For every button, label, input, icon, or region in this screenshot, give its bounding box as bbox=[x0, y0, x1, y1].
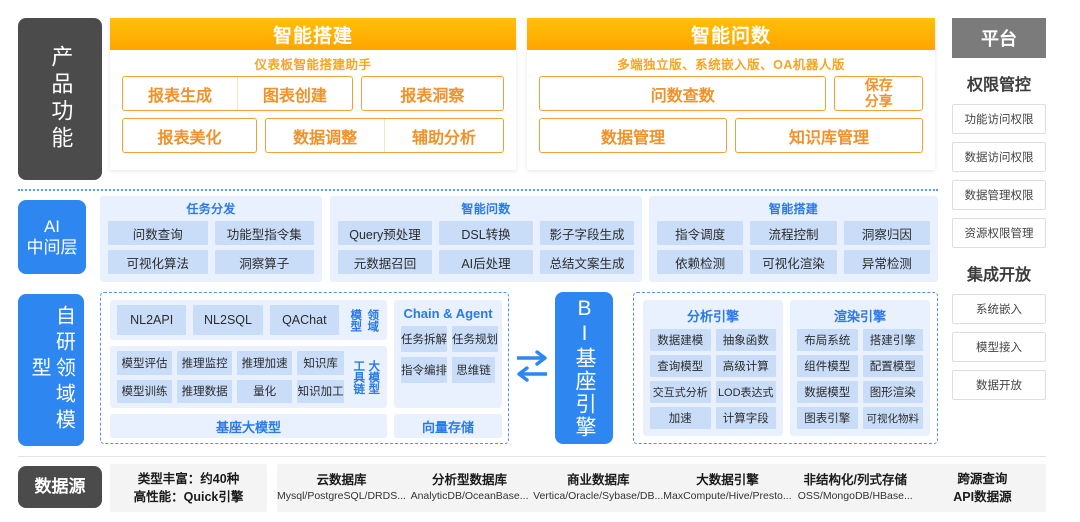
datasource-col-bigdata-engine-sub: MaxCompute/Hive/Presto... bbox=[663, 489, 791, 504]
panel-smart-query-row-2: 数据管理 知识库管理 bbox=[539, 118, 923, 153]
chip-instruction-orchestration[interactable]: 指令编排 bbox=[401, 357, 447, 383]
ai-task-dispatch-row-1: 问数查询 功能型指令集 bbox=[108, 221, 314, 245]
ai-task-dispatch-row-2: 可视化算法 洞察算子 bbox=[108, 250, 314, 274]
chip-quantization[interactable]: 量化 bbox=[237, 380, 292, 404]
rail-ai-label-line1: AI bbox=[27, 216, 78, 237]
ai-chip-instruction-schedule[interactable]: 指令调度 bbox=[657, 221, 743, 245]
datasource-col-cloud-db-sub: Mysql/PostgreSQL/DRDS... bbox=[277, 489, 406, 504]
sidelabel-toolchain: 工具链 bbox=[350, 351, 365, 403]
ai-group-smart-query: 智能问数 Query预处理 DSL转换 影子字段生成 元数据召回 AI后处理 总… bbox=[330, 196, 642, 282]
chip-calculated-field[interactable]: 计算字段 bbox=[716, 407, 777, 429]
panel-smart-query-header: 智能问数 bbox=[527, 18, 935, 50]
chip-chain-of-thought[interactable]: 思维链 bbox=[452, 357, 495, 383]
pane-chain-agent: Chain & Agent 任务拆解 任务规划 指令编排 思维链 bbox=[394, 300, 502, 408]
pane-render-engine-title: 渲染引擎 bbox=[797, 306, 923, 325]
ai-chip-metadata-recall[interactable]: 元数据召回 bbox=[338, 250, 432, 274]
ai-chip-ai-postprocess[interactable]: AI后处理 bbox=[439, 250, 533, 274]
ai-chip-ask-query[interactable]: 问数查询 bbox=[108, 221, 208, 245]
ai-chip-insight-attribution[interactable]: 洞察归因 bbox=[844, 221, 930, 245]
feature-report-insight[interactable]: 报表洞察 bbox=[361, 76, 504, 111]
panel-smart-build-row-2: 报表美化 数据调整 辅助分析 bbox=[122, 118, 504, 153]
platform-item-function-access[interactable]: 功能访问权限 bbox=[952, 104, 1046, 134]
chip-data-model[interactable]: 数据模型 bbox=[797, 381, 858, 403]
panel-smart-query-row-1: 问数查数 保存 分享 bbox=[539, 76, 923, 111]
rail-data-source: 数据源 bbox=[18, 466, 102, 508]
rail-domain-model-label: 自研领域模型 bbox=[27, 294, 76, 446]
ai-smart-build-row-2: 依赖检测 可视化渲染 异常检测 bbox=[657, 250, 930, 274]
sidelabel-domain: 领域 bbox=[363, 305, 380, 335]
ai-chip-process-control[interactable]: 流程控制 bbox=[750, 221, 836, 245]
ai-chip-visualization-render[interactable]: 可视化渲染 bbox=[750, 250, 836, 274]
chip-task-planning[interactable]: 任务规划 bbox=[452, 326, 498, 352]
ai-chip-anomaly-detect[interactable]: 异常检测 bbox=[844, 250, 930, 274]
datasource-col-unstructured-storage-title: 非结构化/列式存储 bbox=[804, 471, 907, 489]
chip-advanced-calculation[interactable]: 高级计算 bbox=[716, 355, 777, 377]
datasource-summary-card: 类型丰富：约40种 高性能：Quick引擎 bbox=[110, 464, 267, 512]
section-domain-model: 自研领域模型 NL2API NL2SQL QAChat 模型 领域 bbox=[0, 288, 1080, 452]
panel-smart-build-header: 智能搭建 bbox=[110, 18, 516, 50]
ai-group-task-dispatch-title: 任务分发 bbox=[108, 200, 314, 217]
datasource-col-cloud-db[interactable]: 云数据库 Mysql/PostgreSQL/DRDS... bbox=[277, 471, 406, 504]
architecture-diagram: 产品功能 智能搭建 仪表板智能搭建助手 报表生成 图表创建 报表洞察 报表美化 … bbox=[0, 0, 1080, 522]
datasource-col-commercial-db-title: 商业数据库 bbox=[567, 471, 630, 489]
feature-box-report-generate-chart-create[interactable]: 报表生成 图表创建 bbox=[122, 76, 353, 111]
sidelabel-model: 模型 bbox=[346, 305, 363, 335]
ai-chip-query-preprocess[interactable]: Query预处理 bbox=[338, 221, 432, 245]
chip-acceleration[interactable]: 加速 bbox=[650, 407, 711, 429]
panel-smart-build: 智能搭建 仪表板智能搭建助手 报表生成 图表创建 报表洞察 报表美化 数据调整 … bbox=[110, 18, 516, 170]
pane-analysis-engine-title: 分析引擎 bbox=[650, 306, 776, 325]
feature-data-management[interactable]: 数据管理 bbox=[539, 118, 727, 153]
pane-vector-storage[interactable]: 向量存储 bbox=[394, 414, 502, 438]
chip-data-modeling[interactable]: 数据建模 bbox=[650, 329, 711, 351]
chip-knowledge-base[interactable]: 知识库 bbox=[297, 351, 344, 375]
ai-smart-build-row-1: 指令调度 流程控制 洞察归因 bbox=[657, 221, 930, 245]
rail-data-source-label: 数据源 bbox=[35, 477, 86, 498]
rail-ai-label-line2: 中间层 bbox=[27, 237, 78, 258]
feature-report-generate[interactable]: 报表生成 bbox=[123, 77, 237, 110]
chip-lod-expression[interactable]: LOD表达式 bbox=[716, 381, 777, 403]
chip-qachat[interactable]: QAChat bbox=[270, 305, 339, 335]
chip-inference-data[interactable]: 推理数据 bbox=[177, 380, 232, 404]
chip-query-model[interactable]: 查询模型 bbox=[650, 355, 711, 377]
pane-foundation-model-label: 基座大模型 bbox=[216, 417, 281, 436]
ai-group-smart-query-title: 智能问数 bbox=[338, 200, 634, 217]
datasource-types-card: 云数据库 Mysql/PostgreSQL/DRDS... 分析型数据库 Ana… bbox=[277, 464, 1046, 512]
chip-task-decompose[interactable]: 任务拆解 bbox=[401, 326, 447, 352]
chip-graphic-render[interactable]: 图形渲染 bbox=[863, 381, 924, 403]
platform-group-title-permission: 权限管控 bbox=[952, 71, 1046, 95]
ai-chip-dsl-convert[interactable]: DSL转换 bbox=[439, 221, 533, 245]
section-data-source: 数据源 类型丰富：约40种 高性能：Quick引擎 云数据库 Mysql/Pos… bbox=[0, 458, 1080, 522]
chip-chart-engine[interactable]: 图表引擎 bbox=[797, 407, 858, 429]
pane-chain-agent-title: Chain & Agent bbox=[401, 306, 495, 321]
divider-product-ai bbox=[18, 189, 938, 191]
feature-box-data-adjust-assist-analysis[interactable]: 数据调整 辅助分析 bbox=[265, 118, 504, 153]
chip-component-model[interactable]: 组件模型 bbox=[797, 355, 858, 377]
datasource-col-unstructured-storage-sub: OSS/MongoDB/HBase... bbox=[798, 489, 913, 504]
ai-chip-summary-copy-generate[interactable]: 总结文案生成 bbox=[540, 250, 634, 274]
panel-smart-build-subtitle: 仪表板智能搭建助手 bbox=[110, 50, 516, 76]
chip-nl2sql[interactable]: NL2SQL bbox=[193, 305, 262, 335]
rail-product-function: 产品功能 bbox=[18, 18, 102, 180]
chip-inference-monitor[interactable]: 推理监控 bbox=[177, 351, 232, 375]
chip-model-train[interactable]: 模型训练 bbox=[117, 380, 172, 404]
section-product-function: 产品功能 智能搭建 仪表板智能搭建助手 报表生成 图表创建 报表洞察 报表美化 … bbox=[0, 0, 1080, 186]
ai-chip-shadow-field-generate[interactable]: 影子字段生成 bbox=[540, 221, 634, 245]
rail-product-function-label: 产品功能 bbox=[47, 45, 74, 153]
chip-config-model[interactable]: 配置模型 bbox=[863, 355, 924, 377]
feature-knowledge-base-management[interactable]: 知识库管理 bbox=[735, 118, 923, 153]
ai-group-smart-build: 智能搭建 指令调度 流程控制 洞察归因 依赖检测 可视化渲染 异常检测 bbox=[649, 196, 938, 282]
datasource-col-bigdata-engine[interactable]: 大数据引擎 MaxCompute/Hive/Presto... bbox=[663, 471, 791, 504]
ai-smart-query-row-1: Query预处理 DSL转换 影子字段生成 bbox=[338, 221, 634, 245]
feature-share-label: 分享 bbox=[865, 94, 893, 110]
sidelabel-large-model: 大模型 bbox=[365, 351, 380, 403]
ai-chip-dependency-detect[interactable]: 依赖检测 bbox=[657, 250, 743, 274]
section-ai-middle-layer: AI 中间层 任务分发 问数查询 功能型指令集 可视化算法 洞察算子 智能问数 … bbox=[0, 192, 1080, 282]
datasource-col-cross-source-query-title: 跨源查询 bbox=[957, 470, 1007, 488]
ai-group-task-dispatch: 任务分发 问数查询 功能型指令集 可视化算法 洞察算子 bbox=[100, 196, 322, 282]
panel-smart-query-subtitle: 多端独立版、系统嵌入版、OA机器人版 bbox=[527, 50, 935, 76]
feature-save-share[interactable]: 保存 分享 bbox=[834, 76, 923, 111]
pane-analysis-engine: 分析引擎 数据建模 抽象函数 查询模型 高级计算 交互式分析 LOD表达式 加速… bbox=[643, 300, 783, 436]
bidirectional-arrow-icon bbox=[513, 344, 551, 388]
feature-data-adjust[interactable]: 数据调整 bbox=[266, 119, 384, 152]
ai-smart-query-row-2: 元数据召回 AI后处理 总结文案生成 bbox=[338, 250, 634, 274]
chip-abstract-function[interactable]: 抽象函数 bbox=[716, 329, 777, 351]
panel-smart-build-row-1: 报表生成 图表创建 报表洞察 bbox=[122, 76, 504, 111]
datasource-col-analytic-db-sub: AnalyticDB/OceanBase... bbox=[411, 489, 529, 504]
platform-item-data-access[interactable]: 数据访问权限 bbox=[952, 142, 1046, 172]
feature-report-beautify[interactable]: 报表美化 bbox=[122, 118, 257, 153]
datasource-col-analytic-db[interactable]: 分析型数据库 AnalyticDB/OceanBase... bbox=[406, 471, 533, 504]
ai-chip-insight-operator[interactable]: 洞察算子 bbox=[215, 250, 315, 274]
feature-assist-analysis[interactable]: 辅助分析 bbox=[384, 119, 503, 152]
platform-header: 平台 bbox=[952, 18, 1046, 58]
datasource-col-cross-source-query-sub: API数据源 bbox=[953, 488, 1011, 506]
rail-domain-model: 自研领域模型 bbox=[18, 294, 84, 446]
chip-model-eval[interactable]: 模型评估 bbox=[117, 351, 172, 375]
feature-ask-number-query[interactable]: 问数查数 bbox=[539, 76, 826, 111]
feature-save-label: 保存 bbox=[865, 78, 893, 94]
datasource-col-cloud-db-title: 云数据库 bbox=[316, 471, 366, 489]
datasource-col-commercial-db-sub: Vertica/Oracle/Sybase/DB... bbox=[533, 489, 663, 504]
datasource-col-analytic-db-title: 分析型数据库 bbox=[432, 471, 507, 489]
bi-foundation-engine-label: BI基座引擎 bbox=[569, 297, 599, 439]
ai-group-smart-build-title: 智能搭建 bbox=[657, 200, 930, 217]
rail-ai-middle-layer: AI 中间层 bbox=[18, 200, 86, 274]
chip-visualization-material[interactable]: 可视化物料 bbox=[863, 407, 924, 429]
ai-chip-function-instruction-set[interactable]: 功能型指令集 bbox=[215, 221, 315, 245]
datasource-col-cross-source-query[interactable]: 跨源查询 API数据源 bbox=[919, 470, 1046, 506]
pane-render-engine: 渲染引擎 布局系统 搭建引擎 组件模型 配置模型 数据模型 图形渲染 图表引擎 … bbox=[790, 300, 930, 436]
divider-domain-datasource bbox=[18, 456, 1046, 457]
pane-model-toolchain: 模型评估 推理监控 推理加速 知识库 模型训练 推理数据 量化 知识加工 工具链 bbox=[110, 346, 387, 408]
datasource-col-commercial-db[interactable]: 商业数据库 Vertica/Oracle/Sybase/DB... bbox=[533, 471, 663, 504]
chip-interactive-analysis[interactable]: 交互式分析 bbox=[650, 381, 711, 403]
pane-vector-storage-label: 向量存储 bbox=[422, 417, 474, 436]
datasource-summary-line1: 类型丰富：约40种 bbox=[138, 470, 239, 488]
panel-smart-query: 智能问数 多端独立版、系统嵌入版、OA机器人版 问数查数 保存 分享 数据管理 … bbox=[527, 18, 935, 170]
pane-domain-model-apis: NL2API NL2SQL QAChat 模型 领域 bbox=[110, 300, 387, 340]
datasource-col-unstructured-storage[interactable]: 非结构化/列式存储 OSS/MongoDB/HBase... bbox=[792, 471, 919, 504]
feature-chart-create[interactable]: 图表创建 bbox=[237, 77, 352, 110]
ai-chip-visualization-algorithm[interactable]: 可视化算法 bbox=[108, 250, 208, 274]
pane-foundation-model[interactable]: 基座大模型 bbox=[110, 414, 387, 438]
chip-layout-system[interactable]: 布局系统 bbox=[797, 329, 858, 351]
datasource-col-bigdata-engine-title: 大数据引擎 bbox=[696, 471, 759, 489]
chip-build-engine[interactable]: 搭建引擎 bbox=[863, 329, 924, 351]
chip-nl2api[interactable]: NL2API bbox=[117, 305, 186, 335]
chip-inference-accelerate[interactable]: 推理加速 bbox=[237, 351, 292, 375]
bi-foundation-engine: BI基座引擎 bbox=[555, 292, 613, 444]
chip-knowledge-processing[interactable]: 知识加工 bbox=[297, 380, 344, 404]
datasource-summary-line2: 高性能：Quick引擎 bbox=[134, 488, 244, 506]
